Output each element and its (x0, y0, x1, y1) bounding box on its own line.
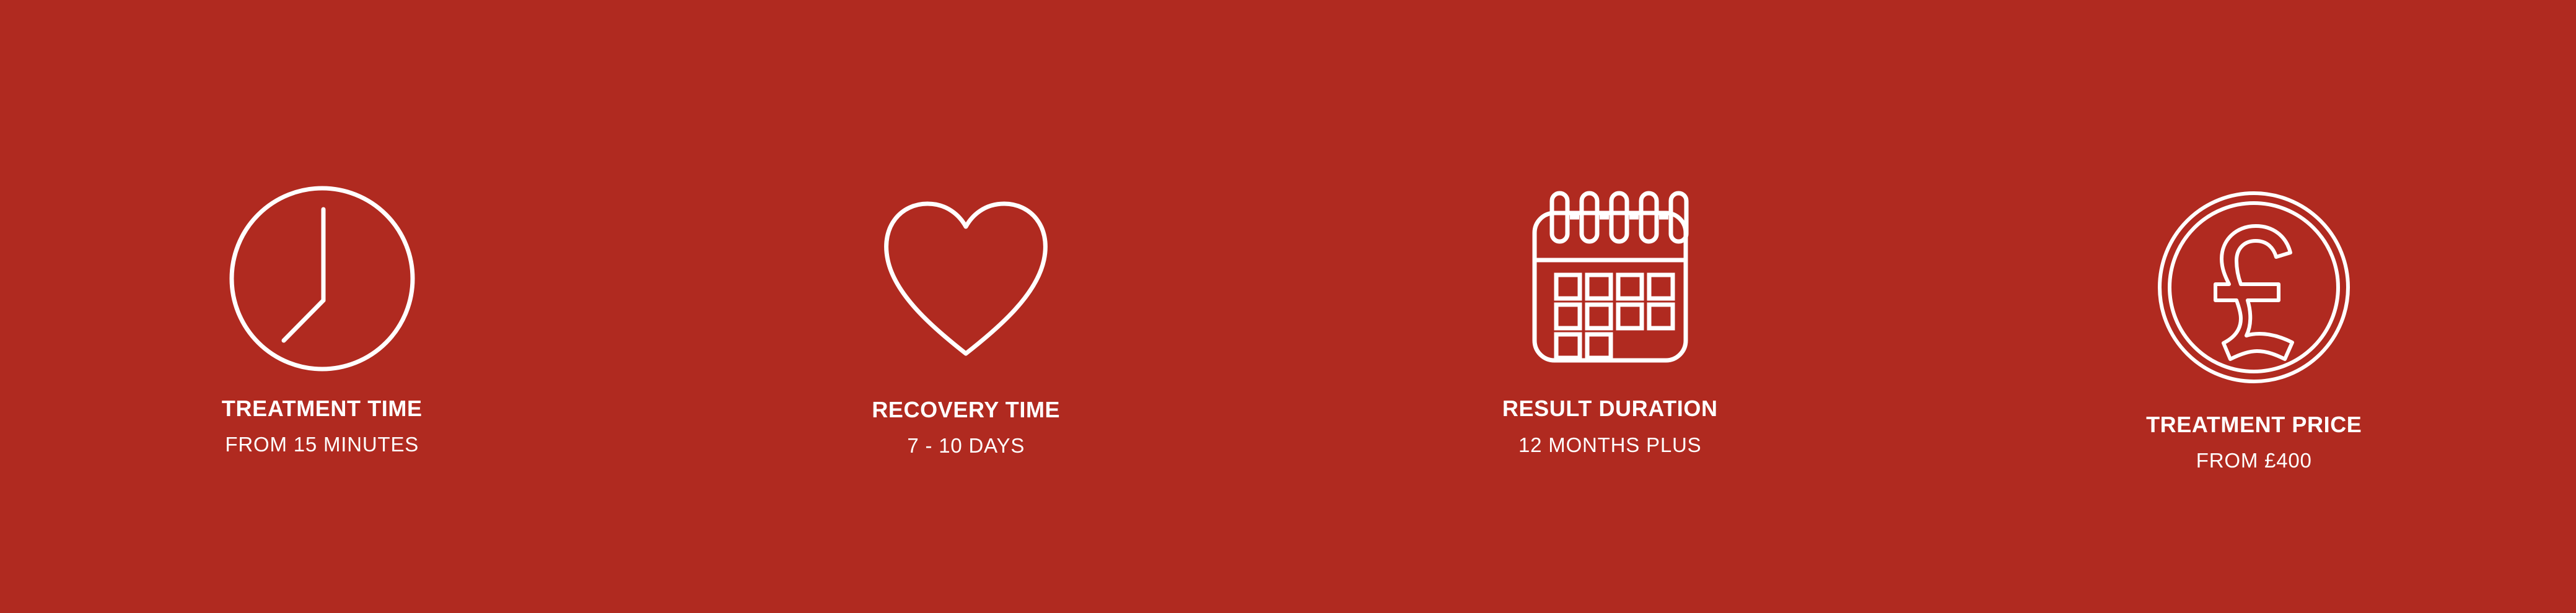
info-column-title: TREATMENT TIME (222, 398, 423, 420)
info-column-treatment-time: TREATMENT TIME FROM 15 MINUTES (0, 0, 644, 613)
heart-icon (873, 186, 1059, 372)
pound-coin-icon (2157, 191, 2350, 384)
info-column-subtitle: FROM £400 (2196, 450, 2312, 471)
calendar-icon (1517, 186, 1703, 372)
info-column-treatment-price: TREATMENT PRICE FROM £400 (1932, 0, 2576, 613)
info-column-recovery-time: RECOVERY TIME 7 - 10 DAYS (644, 0, 1289, 613)
info-column-result-duration: RESULT DURATION 12 MONTHS PLUS (1288, 0, 1932, 613)
info-column-subtitle: 7 - 10 DAYS (907, 435, 1025, 456)
info-column-title: RESULT DURATION (1502, 398, 1718, 420)
info-column-subtitle: FROM 15 MINUTES (225, 434, 419, 454)
info-column-subtitle: 12 MONTHS PLUS (1518, 435, 1701, 455)
info-column-title: RECOVERY TIME (872, 399, 1060, 421)
clock-icon (229, 186, 415, 372)
treatment-info-banner: TREATMENT TIME FROM 15 MINUTES RECOVERY … (0, 0, 2576, 613)
info-columns: TREATMENT TIME FROM 15 MINUTES RECOVERY … (0, 0, 2576, 613)
info-column-title: TREATMENT PRICE (2146, 414, 2362, 436)
